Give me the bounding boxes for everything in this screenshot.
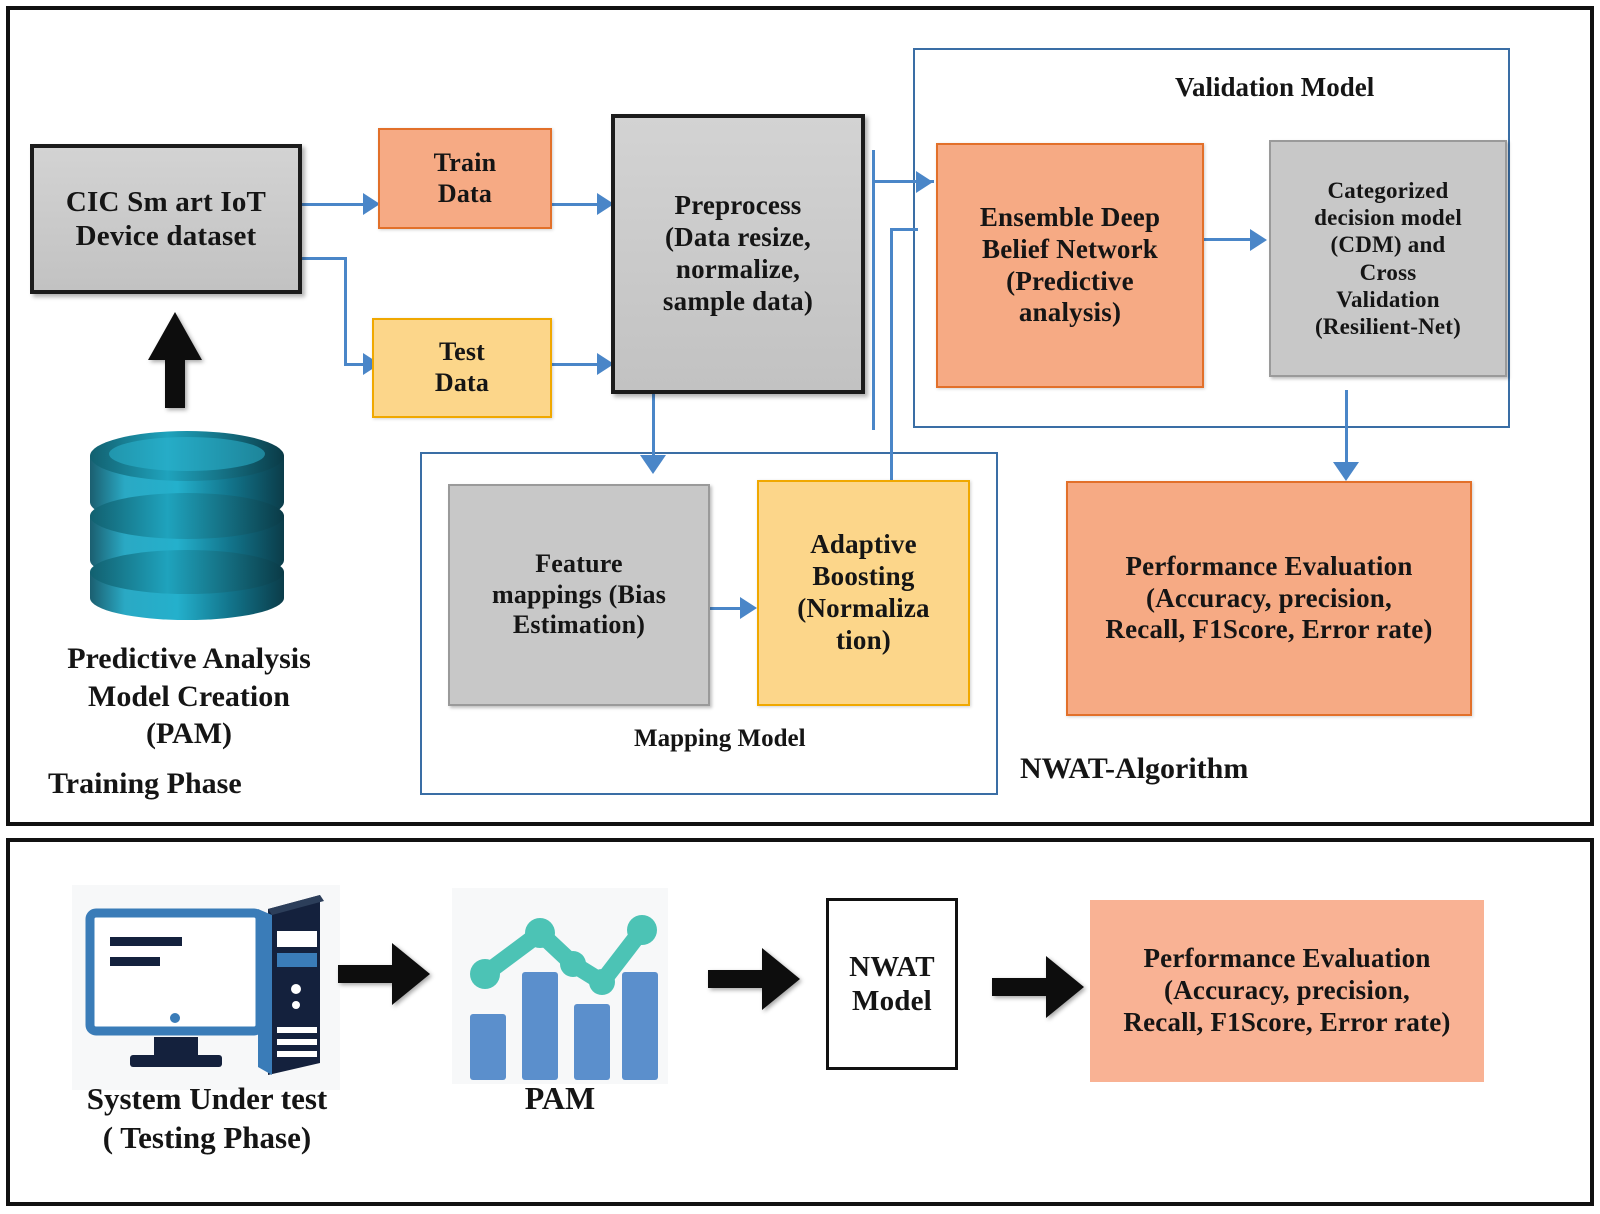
arrowhead-cdm — [1250, 229, 1267, 251]
node-performance-evaluation-testing: Performance Evaluation (Accuracy, precis… — [1090, 900, 1484, 1082]
mapping-model-label: Mapping Model — [634, 725, 806, 753]
caption-training-phase: Training Phase — [24, 765, 338, 803]
caption-system-under-test: System Under test ( Testing Phase) — [52, 1080, 362, 1158]
connector-edbn-to-cdm — [1204, 238, 1256, 241]
validation-model-label: Validation Model — [1175, 72, 1374, 103]
arrowhead-edbn — [916, 171, 933, 193]
node-cic-dataset-label: CIC Sm art IoT Device dataset — [60, 183, 272, 255]
node-nwat-model-label: NWAT Model — [843, 948, 941, 1020]
arrowhead-boosting — [740, 597, 757, 619]
node-nwat-model: NWAT Model — [826, 898, 958, 1070]
node-adaptive-boosting-label: Adaptive Boosting (Normaliza tion) — [791, 527, 935, 658]
black-right-arrow-icon-1 — [336, 935, 432, 1013]
black-right-arrow-icon-3 — [990, 948, 1086, 1026]
node-adaptive-boosting: Adaptive Boosting (Normaliza tion) — [757, 480, 970, 706]
caption-nwat-algorithm: NWAT-Algorithm — [1020, 750, 1350, 788]
black-up-arrow-icon — [144, 310, 206, 410]
connector-preprocess-to-edbn-v — [872, 150, 875, 430]
node-train-data-label: Train Data — [428, 146, 503, 211]
connector-dataset-to-train — [302, 203, 364, 206]
node-test-data: Test Data — [372, 318, 552, 418]
connector-boosting-to-edbn-v — [890, 228, 893, 480]
node-categorized-decision-model: Categorized decision model (CDM) and Cro… — [1269, 140, 1507, 377]
node-feature-mappings-label: Feature mappings (Bias Estimation) — [486, 547, 672, 643]
arrowhead-feature-mappings — [640, 455, 666, 474]
node-cic-dataset: CIC Sm art IoT Device dataset — [30, 144, 302, 294]
node-preprocess-label: Preprocess (Data resize, normalize, samp… — [657, 188, 819, 319]
desktop-computer-icon — [72, 885, 340, 1090]
database-cylinder-icon — [78, 420, 296, 620]
node-cdm-label: Categorized decision model (CDM) and Cro… — [1308, 175, 1468, 342]
arrowhead-performance-eval — [1333, 462, 1359, 481]
caption-pam-testing: PAM — [470, 1078, 650, 1118]
node-performance-evaluation-training-label: Performance Evaluation (Accuracy, precis… — [1099, 549, 1438, 649]
connector-dataset-to-test-h1 — [302, 257, 346, 260]
node-preprocess: Preprocess (Data resize, normalize, samp… — [611, 114, 865, 394]
node-feature-mappings: Feature mappings (Bias Estimation) — [448, 484, 710, 706]
caption-pam: Predictive Analysis Model Creation (PAM) — [24, 640, 354, 753]
node-train-data: Train Data — [378, 128, 552, 229]
node-performance-evaluation-testing-label: Performance Evaluation (Accuracy, precis… — [1117, 941, 1456, 1041]
node-ensemble-deep-belief-network: Ensemble Deep Belief Network (Predictive… — [936, 143, 1204, 388]
node-test-data-label: Test Data — [429, 335, 495, 400]
node-performance-evaluation-training: Performance Evaluation (Accuracy, precis… — [1066, 481, 1472, 716]
node-edbn-label: Ensemble Deep Belief Network (Predictive… — [974, 200, 1166, 331]
figure-canvas: Validation Model Mapping Model CIC Sm ar… — [0, 0, 1600, 1214]
connector-preprocess-to-feature-v — [652, 394, 655, 458]
connector-dataset-to-test-v — [344, 257, 347, 365]
bar-line-chart-icon — [452, 888, 668, 1084]
black-right-arrow-icon-2 — [706, 940, 802, 1018]
connector-cdm-to-performance-v — [1345, 390, 1348, 470]
connector-boosting-to-edbn-h — [890, 228, 918, 231]
